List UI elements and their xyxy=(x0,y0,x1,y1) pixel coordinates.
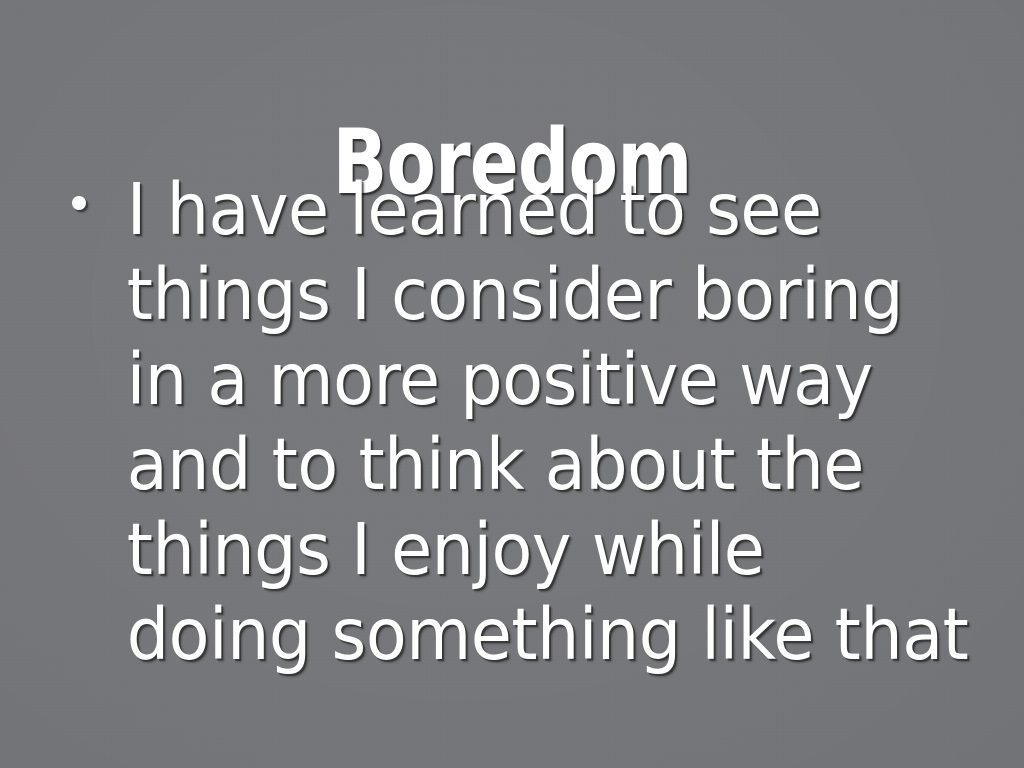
slide-canvas: Boredom I have learned to see things I c… xyxy=(0,0,1024,768)
bullet-text-line: and to think about the xyxy=(127,422,906,507)
bullet-text-line: things I enjoy while xyxy=(127,507,906,592)
list-item: I have learned to see things I consider … xyxy=(60,167,960,677)
bullet-text-line: doing something like that xyxy=(127,592,906,677)
slide-content: Boredom I have learned to see things I c… xyxy=(0,0,1024,768)
bullet-text-line: in a more positive way xyxy=(127,337,906,422)
bullet-text-line: I have learned to see xyxy=(127,167,906,252)
slide-body: I have learned to see things I consider … xyxy=(60,167,960,677)
bullet-text-line: things I consider boring xyxy=(127,252,906,337)
bullet-item-text: I have learned to see things I consider … xyxy=(60,167,906,677)
